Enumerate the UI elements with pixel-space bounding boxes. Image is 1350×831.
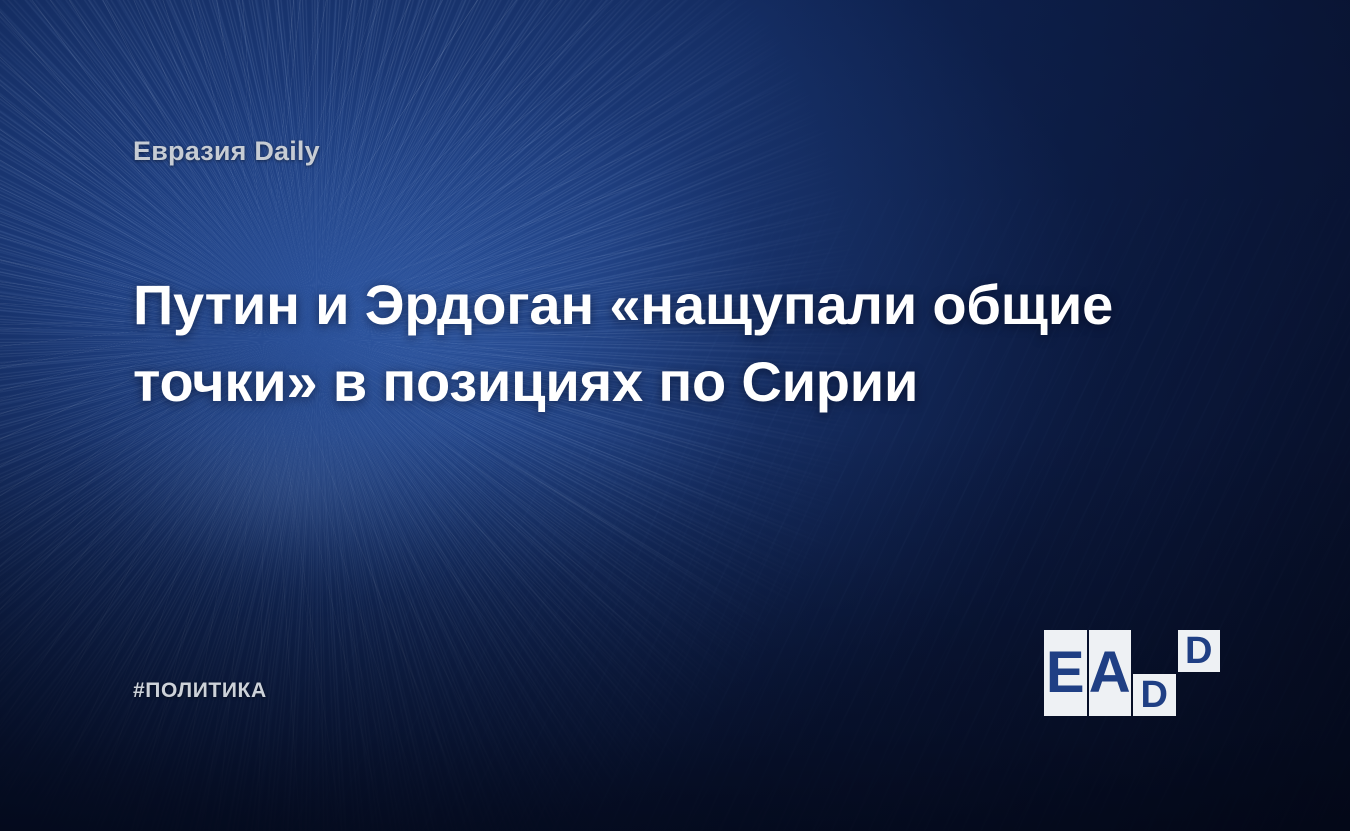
logo-letter-e: E <box>1044 630 1087 716</box>
logo-tile-empty-bottom-right <box>1178 674 1221 716</box>
headline-line-1: Путин и Эрдоган «нащупали общие <box>133 266 1133 343</box>
logo-tile-empty-top-left <box>1133 630 1176 672</box>
logo-tile-a: A <box>1089 630 1132 716</box>
category-tag[interactable]: #ПОЛИТИКА <box>133 679 267 703</box>
card-content: Евразия Daily Путин и Эрдоган «нащупали … <box>0 0 1350 831</box>
eadaily-logo[interactable]: E A D D <box>1044 630 1220 716</box>
headline-line-2: точки» в позициях по Сирии <box>133 343 1133 420</box>
page-title: Путин и Эрдоган «нащупали общие точки» в… <box>133 266 1133 420</box>
logo-letter-d-top: D <box>1178 630 1221 672</box>
logo-tile-d-top: D <box>1178 630 1221 672</box>
logo-letter-d-bottom: D <box>1133 674 1176 716</box>
logo-tile-d-bottom: D <box>1133 674 1176 716</box>
brand-title: Евразия Daily <box>133 136 320 167</box>
news-cover-card: Евразия Daily Путин и Эрдоган «нащупали … <box>0 0 1350 831</box>
logo-letter-a: A <box>1089 630 1132 716</box>
logo-tile-e: E <box>1044 630 1087 716</box>
